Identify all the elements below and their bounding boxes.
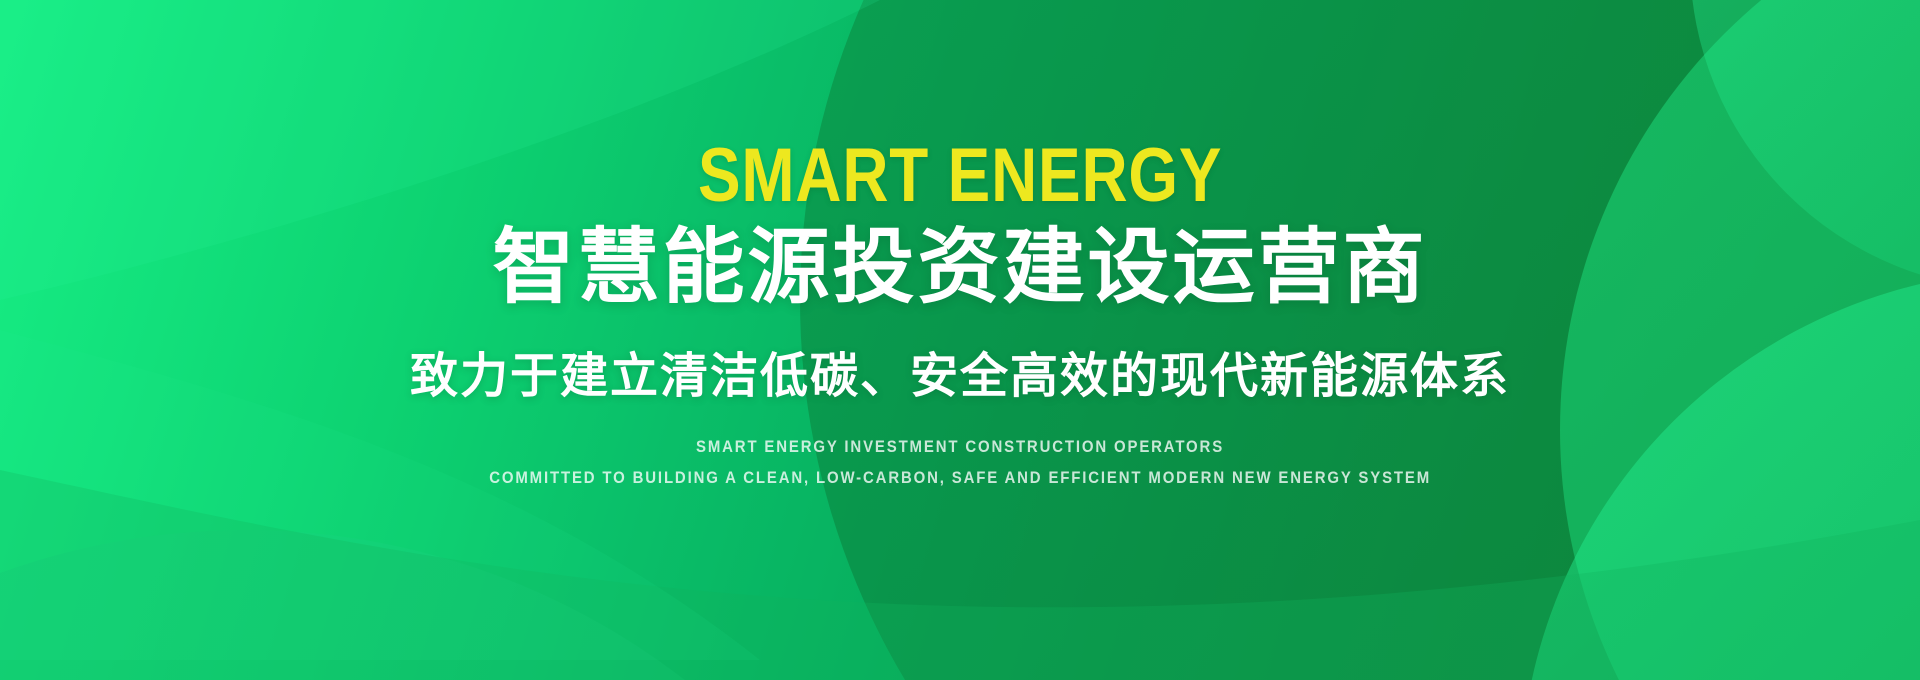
headline-english: SMART ENERGY bbox=[698, 138, 1222, 214]
smart-energy-hero-banner: SMART ENERGY 智慧能源投资建设运营商 致力于建立清洁低碳、安全高效的… bbox=[0, 0, 1920, 680]
headline-chinese: 智慧能源投资建设运营商 bbox=[492, 224, 1427, 313]
banner-text-stack: SMART ENERGY 智慧能源投资建设运营商 致力于建立清洁低碳、安全高效的… bbox=[0, 0, 1920, 680]
tagline-english-primary: SMART ENERGY INVESTMENT CONSTRUCTION OPE… bbox=[696, 434, 1224, 460]
subheadline-chinese: 致力于建立清洁低碳、安全高效的现代新能源体系 bbox=[410, 349, 1510, 404]
tagline-english-secondary: COMMITTED TO BUILDING A CLEAN, LOW-CARBO… bbox=[489, 465, 1431, 491]
